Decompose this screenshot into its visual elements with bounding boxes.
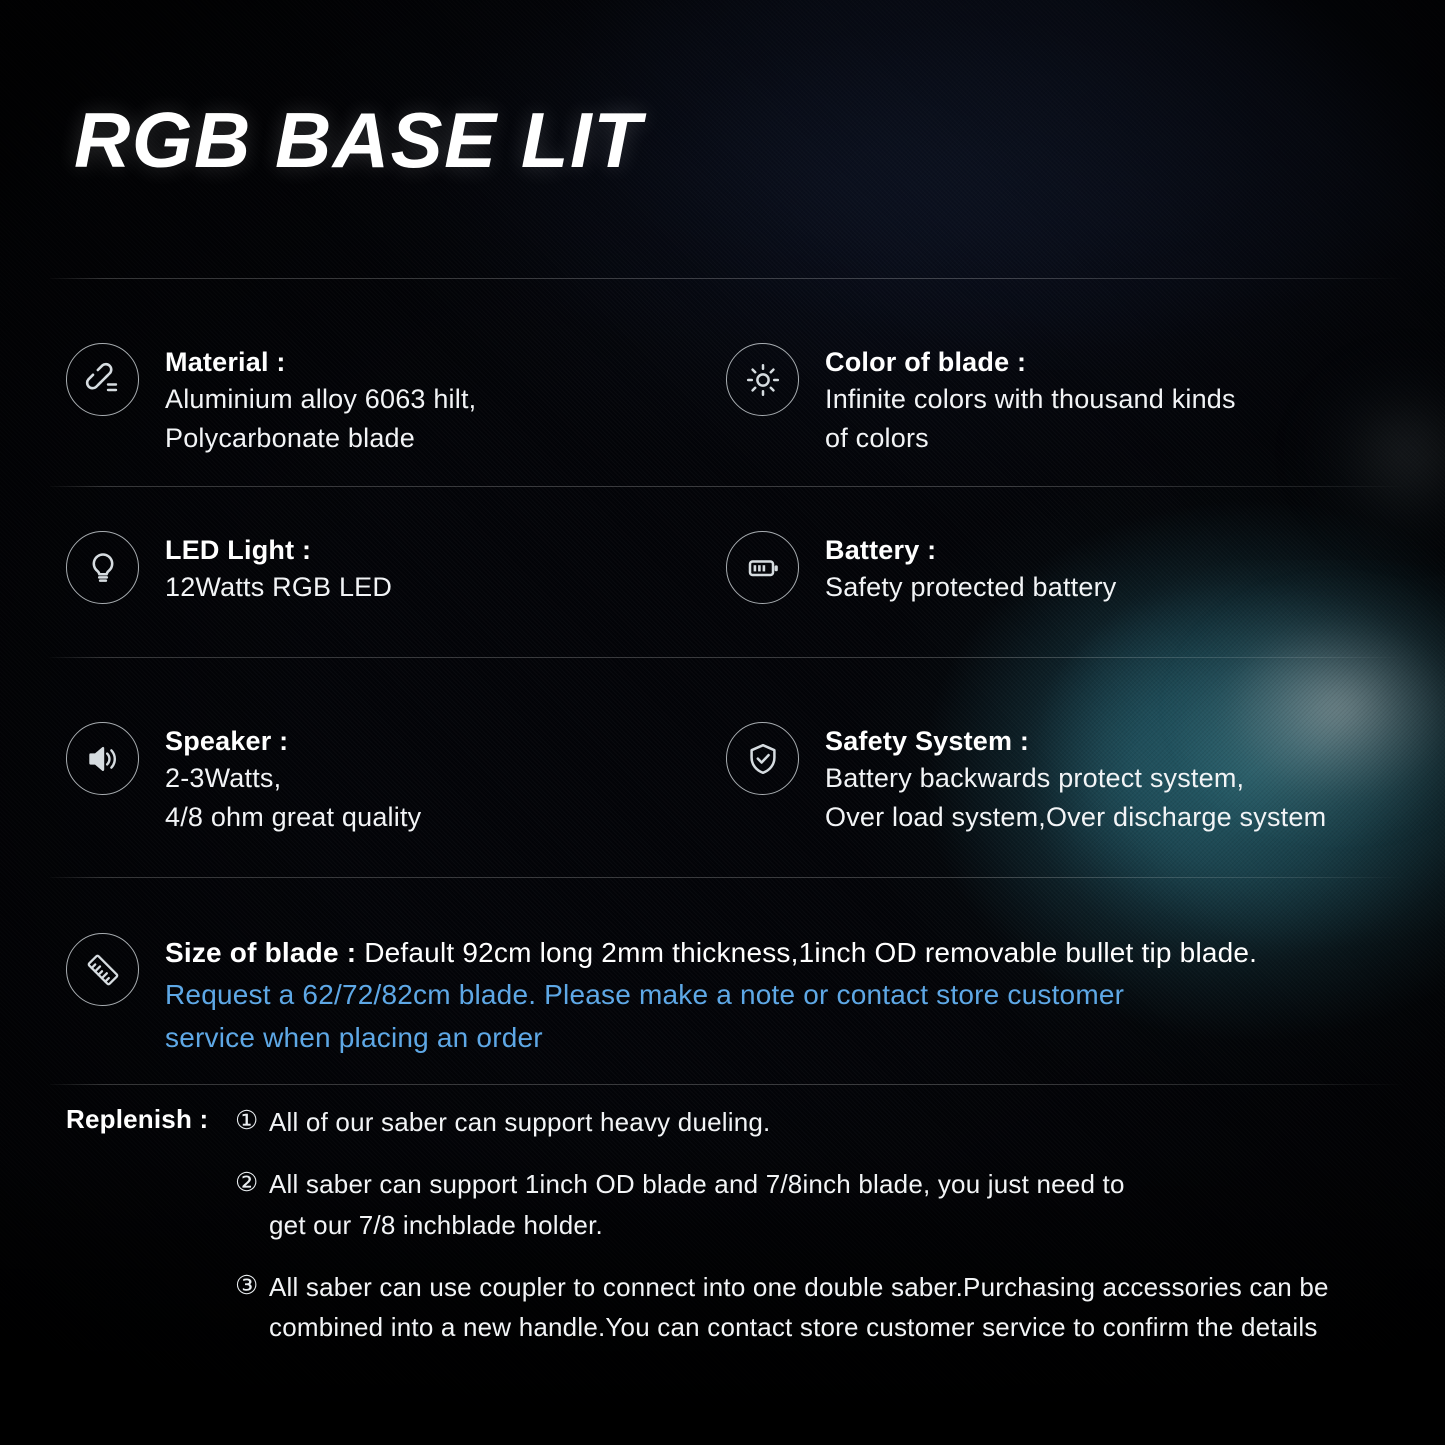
spec-battery: Battery : Safety protected battery	[726, 531, 1116, 607]
spec-label: Material :	[165, 345, 476, 380]
size-of-blade-note: Request a 62/72/82cm blade. Please make …	[165, 973, 1445, 1059]
product-spec-infographic: RGB BASE LIT Material : Aluminium alloy …	[0, 0, 1445, 1445]
brightness-sun-icon	[726, 343, 799, 416]
spec-label: Speaker :	[165, 724, 421, 759]
size-of-blade-value: Default 92cm long 2mm thickness,1inch OD…	[364, 937, 1257, 968]
divider-3	[50, 657, 1405, 658]
spec-value: Aluminium alloy 6063 hilt, Polycarbonate…	[165, 380, 476, 459]
divider-5	[50, 1084, 1405, 1085]
chain-link-icon	[66, 343, 139, 416]
list-item: ② All saber can support 1inch OD blade a…	[235, 1164, 1426, 1245]
spec-text: Color of blade : Infinite colors with th…	[825, 343, 1236, 459]
list-item-text: All saber can support 1inch OD blade and…	[269, 1164, 1125, 1245]
spec-text: Safety System : Battery backwards protec…	[825, 722, 1326, 838]
spec-value: Infinite colors with thousand kinds of c…	[825, 380, 1236, 459]
spec-value: 12Watts RGB LED	[165, 568, 392, 608]
speaker-volume-icon	[66, 722, 139, 795]
content-layer: RGB BASE LIT Material : Aluminium alloy …	[0, 0, 1445, 1445]
spec-label: Color of blade :	[825, 345, 1236, 380]
spec-material: Material : Aluminium alloy 6063 hilt, Po…	[66, 343, 476, 459]
spec-value: 2-3Watts, 4/8 ohm great quality	[165, 759, 421, 838]
replenish-list: ① All of our saber can support heavy due…	[235, 1102, 1426, 1347]
shield-check-icon	[726, 722, 799, 795]
spec-safety-system: Safety System : Battery backwards protec…	[726, 722, 1326, 838]
spec-speaker: Speaker : 2-3Watts, 4/8 ohm great qualit…	[66, 722, 421, 838]
spec-value: Safety protected battery	[825, 568, 1116, 608]
list-item: ③ All saber can use coupler to connect i…	[235, 1267, 1426, 1348]
spec-value: Battery backwards protect system, Over l…	[825, 759, 1326, 838]
spec-text: Material : Aluminium alloy 6063 hilt, Po…	[165, 343, 476, 459]
spec-text: LED Light : 12Watts RGB LED	[165, 531, 392, 607]
battery-icon	[726, 531, 799, 604]
spec-label: LED Light :	[165, 533, 392, 568]
spec-led-light: LED Light : 12Watts RGB LED	[66, 531, 392, 607]
divider-1	[50, 278, 1405, 279]
list-item: ① All of our saber can support heavy due…	[235, 1102, 1426, 1142]
page-title: RGB BASE LIT	[74, 95, 642, 186]
divider-4	[50, 877, 1405, 878]
list-item-marker: ①	[235, 1102, 269, 1140]
spec-text: Speaker : 2-3Watts, 4/8 ohm great qualit…	[165, 722, 421, 838]
size-of-blade-text: Size of blade : Default 92cm long 2mm th…	[165, 933, 1445, 1059]
size-of-blade-label: Size of blade :	[165, 937, 356, 968]
size-of-blade-line: Size of blade : Default 92cm long 2mm th…	[165, 933, 1445, 973]
spec-label: Safety System :	[825, 724, 1326, 759]
spec-color-of-blade: Color of blade : Infinite colors with th…	[726, 343, 1236, 459]
spec-size-of-blade: Size of blade : Default 92cm long 2mm th…	[66, 933, 1445, 1059]
ruler-icon	[66, 933, 139, 1006]
replenish-section: Replenish : ① All of our saber can suppo…	[66, 1102, 1426, 1369]
spec-label: Battery :	[825, 533, 1116, 568]
divider-2	[50, 486, 1405, 487]
list-item-marker: ③	[235, 1267, 269, 1305]
lightbulb-icon	[66, 531, 139, 604]
list-item-text: All of our saber can support heavy dueli…	[269, 1102, 770, 1142]
replenish-heading: Replenish :	[66, 1104, 208, 1135]
list-item-marker: ②	[235, 1164, 269, 1202]
list-item-text: All saber can use coupler to connect int…	[269, 1267, 1329, 1348]
spec-text: Battery : Safety protected battery	[825, 531, 1116, 607]
